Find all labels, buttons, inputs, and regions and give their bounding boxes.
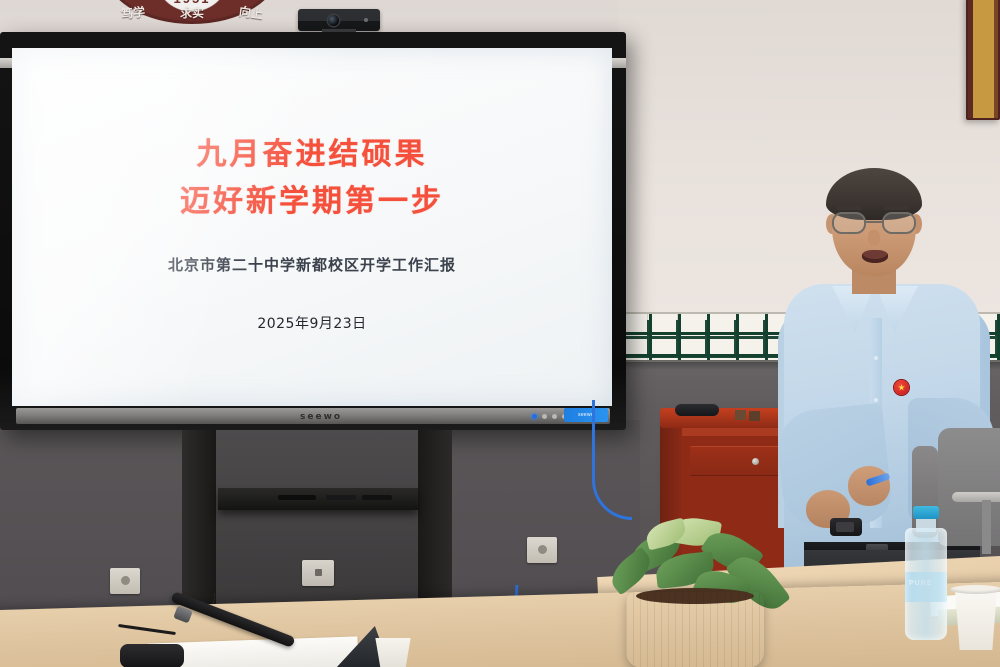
outlet-socket-icon [538, 545, 547, 554]
slide-date: 2025年9月23日 [12, 313, 612, 333]
ir-sensor-strip [430, 412, 522, 420]
podium-small-items [735, 410, 765, 422]
presentation-slide: 九月奋进结硕果 迈好新学期第一步 北京市第二十中学新都校区开学工作汇报 2025… [12, 48, 612, 406]
emblem-char-3: 向上 [238, 2, 264, 22]
display-brand-logo: seewo [300, 412, 342, 422]
emblem-char-2: 求实 [180, 4, 204, 21]
shirt-button [874, 398, 878, 402]
plant-pot [626, 592, 764, 667]
camera-led-icon [364, 18, 368, 22]
remote-control[interactable] [278, 495, 316, 500]
remote-control[interactable] [326, 495, 356, 500]
display-screen[interactable]: 九月奋进结硕果 迈好新学期第一步 北京市第二十中学新都校区开学工作汇报 2025… [12, 48, 612, 406]
watch-face-icon [836, 522, 854, 532]
chair-armrest [952, 492, 1000, 502]
conference-camera[interactable] [298, 9, 380, 31]
interactive-display[interactable]: 九月奋进结硕果 迈好新学期第一步 北京市第二十中学新都校区开学工作汇报 2025… [0, 32, 626, 430]
wall-outlet [110, 568, 140, 594]
glasses-lens-right [882, 212, 916, 234]
paper-cup[interactable] [952, 588, 1000, 650]
cup-rim [950, 585, 1000, 594]
slide-title-line-2: 迈好新学期第一步 [12, 179, 612, 226]
emblem-char-1: 笃学 [120, 2, 146, 21]
outlet-socket-icon [121, 576, 130, 585]
wooden-block [749, 411, 760, 421]
eyebrow-left [836, 206, 862, 210]
meeting-room-scene: 1951 笃学 求实 向上 九月奋进结硕果 迈好新学期第一步 北京市第二十中学新… [0, 0, 1000, 667]
eyebrow-right [884, 206, 910, 210]
emblem-characters: 笃学 求实 向上 [104, 0, 280, 28]
power-led-icon [532, 414, 537, 419]
wooden-block [735, 410, 746, 420]
wall-plaque [966, 0, 1000, 120]
shirt-button [874, 356, 878, 360]
indicator-dot-icon [552, 414, 557, 419]
lapel-pin-icon [894, 380, 909, 395]
nose [868, 230, 880, 246]
microphone-base [120, 644, 184, 667]
water-bottle[interactable] [905, 528, 947, 640]
mouth [862, 250, 888, 263]
folded-cloth [675, 404, 719, 416]
wall-outlet [527, 537, 557, 563]
chair-post [982, 500, 991, 554]
podium-drawer-knob[interactable] [752, 458, 759, 465]
glasses-bridge [866, 221, 882, 223]
bottle-cap[interactable] [913, 506, 939, 519]
indicator-dot-icon [542, 414, 547, 419]
wrist-watch [830, 518, 862, 536]
slide-title-line-1: 九月奋进结硕果 [12, 132, 612, 179]
remote-control[interactable] [362, 495, 392, 500]
slide-subtitle: 北京市第二十中学新都校区开学工作汇报 [12, 254, 612, 275]
camera-lens-icon [328, 15, 339, 26]
leaf [644, 518, 689, 551]
display-power-cable [592, 400, 632, 520]
glasses-lens-left [832, 212, 866, 234]
slide-title-group: 九月奋进结硕果 迈好新学期第一步 [12, 132, 612, 225]
